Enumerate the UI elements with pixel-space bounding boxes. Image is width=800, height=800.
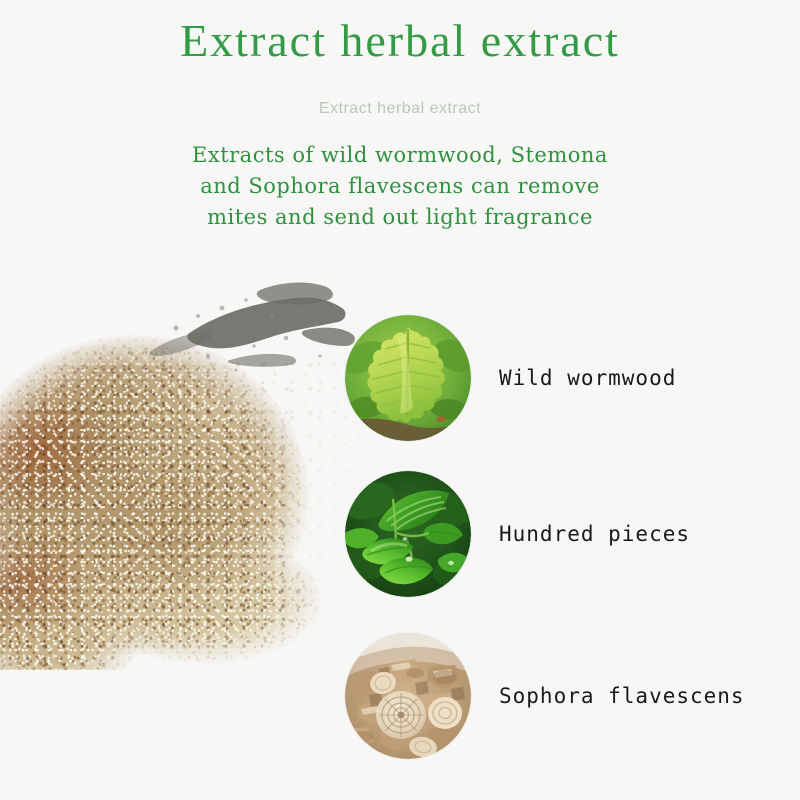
stemona-leaves-illustration [345,471,471,597]
page-subtitle: Extract herbal extract [0,100,800,118]
sophora-root-slices-illustration [345,633,471,759]
promo-banner: Extract herbal extract Extract herbal ex… [0,0,800,800]
ingredient-label-hundred-pieces: Hundred pieces [499,522,690,546]
ingredient-row-hundred-pieces: Hundred pieces [345,470,775,598]
page-title: Extract herbal extract [0,14,800,67]
description-line-2: and Sophora flavescens can remove [0,171,800,202]
sand-scatter-granules [140,360,370,610]
stemona-leaves-photo [345,471,471,597]
wormwood-leaf-photo [345,315,471,441]
description-line-1: Extracts of wild wormwood, Stemona [0,140,800,171]
dark-splash-overlay [110,272,360,392]
ingredient-row-wild-wormwood: Wild wormwood [345,314,775,442]
ingredient-label-wild-wormwood: Wild wormwood [499,366,676,390]
cat-litter-sand-pile-photo [0,270,370,690]
description-line-3: mites and send out light fragrance [0,202,800,233]
sophora-root-slices-photo [345,633,471,759]
wormwood-leaf-illustration [345,315,471,441]
ingredient-row-sophora-flavescens: Sophora flavescens [345,632,775,760]
description-text: Extracts of wild wormwood, Stemona and S… [0,140,800,233]
ingredient-label-sophora-flavescens: Sophora flavescens [499,684,745,708]
